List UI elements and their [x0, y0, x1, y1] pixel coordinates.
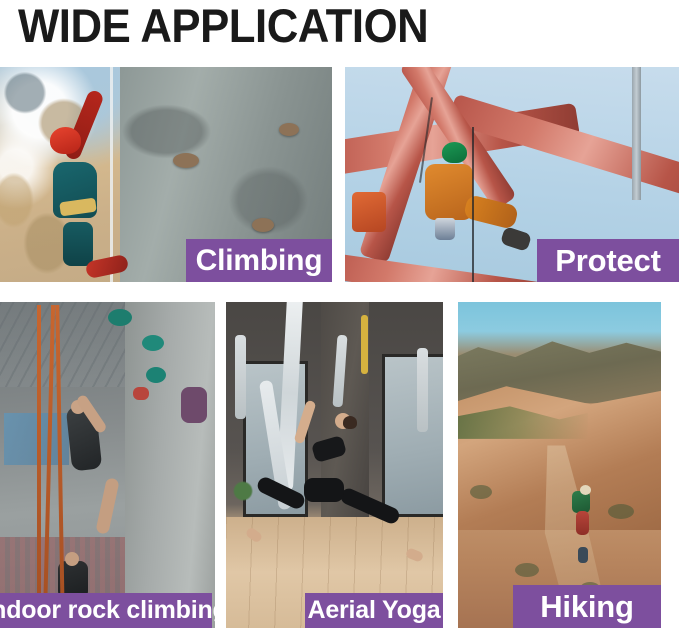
climbing-rope [37, 305, 41, 618]
rock-hold-icon [173, 153, 199, 168]
tool-bag [352, 192, 386, 232]
hiker-body [576, 511, 589, 535]
potted-plant [230, 478, 256, 504]
hanging-hammock [417, 348, 428, 433]
application-tile-protect[interactable]: Protect [345, 67, 679, 282]
rock-hold-icon [279, 123, 299, 136]
aerial-yoga-photo [226, 302, 443, 628]
application-tile-indoor-rock-climbing[interactable]: Indoor rock climbing [0, 302, 215, 628]
application-tile-climbing[interactable]: Climbing [0, 67, 332, 282]
application-tile-aerial-yoga[interactable]: Aerial Yoga [226, 302, 443, 628]
hiking-photo [458, 302, 661, 628]
tile-caption-hiking: Hiking [513, 585, 661, 628]
tile-caption-indoor-rock-climbing: Indoor rock climbing [0, 593, 212, 628]
hiker-leg [578, 547, 588, 563]
worker-hard-hat [442, 142, 467, 163]
desert-scrub [470, 485, 492, 499]
yogi-leggings [304, 478, 344, 502]
rock-hold-icon [252, 218, 274, 232]
yogi-hair [343, 416, 357, 429]
wall-hold-green-icon [108, 309, 132, 326]
yellow-strap [361, 315, 368, 374]
climbing-rope [110, 67, 113, 282]
application-tile-hiking[interactable]: Hiking [458, 302, 661, 628]
studio-window [382, 354, 443, 517]
tile-caption-climbing: Climbing [186, 239, 332, 282]
hanging-hammock [235, 335, 246, 420]
metal-post [632, 67, 641, 200]
desert-scrub [515, 563, 539, 577]
hiker-head [580, 485, 591, 495]
wall-hold-red-icon [133, 387, 149, 400]
tile-caption-aerial-yoga: Aerial Yoga [305, 593, 443, 628]
belayer-head [65, 552, 79, 566]
wall-hold-green-icon [142, 335, 164, 351]
tile-caption-protect: Protect [537, 239, 679, 282]
safety-rope [472, 127, 474, 282]
wall-hold-purple-icon [181, 387, 207, 423]
climber-helmet [50, 127, 81, 154]
page-title: WIDE APPLICATION [18, 0, 428, 54]
paint-bucket [435, 218, 455, 240]
climbing-wall-panel [125, 302, 215, 628]
climber-leg [63, 222, 93, 266]
indoor-climbing-photo [0, 302, 215, 628]
